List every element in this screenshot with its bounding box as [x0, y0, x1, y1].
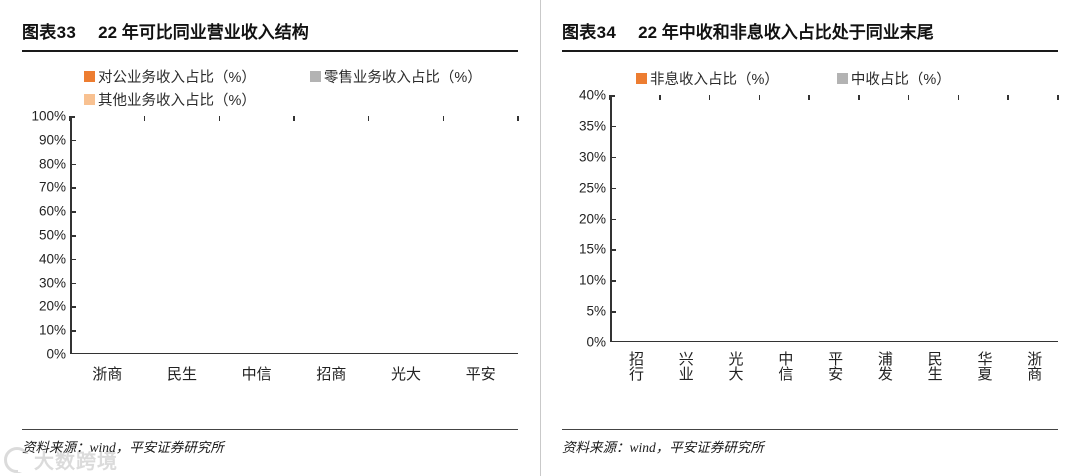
x-axis-label: 光大 [710, 351, 760, 385]
y-tick-label: 5% [586, 304, 606, 319]
x-axis-label: 浙商 [1008, 351, 1058, 385]
x-axis-line [70, 353, 518, 355]
bar-slot [294, 116, 369, 354]
y-tick-label: 10% [39, 323, 66, 338]
x-tick-mark [858, 95, 860, 100]
y-tick-mark [70, 330, 76, 332]
legend-item-midincome: 中收占比（%） [837, 68, 951, 89]
x-tick-mark [709, 95, 711, 100]
y-tick-mark [610, 219, 616, 221]
x-axis-label-text: 浙商 [1025, 351, 1041, 381]
y-tick-label: 30% [39, 275, 66, 290]
bar-slot [610, 95, 660, 342]
x-axis-label: 招行 [610, 351, 660, 385]
figure-panel-34: 图表34 22 年中收和非息收入占比处于同业末尾 非息收入占比（%） 中收占比（… [540, 0, 1080, 476]
figure-number: 图表34 [562, 18, 616, 43]
y-tick-label: 25% [579, 180, 606, 195]
x-axis-label: 平安 [443, 363, 518, 384]
y-tick-mark [70, 164, 76, 166]
x-axis-label-text: 平安 [826, 351, 842, 381]
y-tick-mark [70, 283, 76, 285]
x-tick-mark [144, 116, 146, 121]
x-axis-label: 招商 [294, 363, 369, 384]
y-tick-mark [70, 140, 76, 142]
y-tick-mark [610, 126, 616, 128]
legend-swatch-midincome [837, 73, 848, 84]
y-tick-label: 40% [579, 88, 606, 103]
x-axis-label-text: 兴业 [677, 351, 693, 381]
x-axis-label-text: 招行 [627, 351, 643, 381]
legend-label-retail: 零售业务收入占比（%） [324, 66, 482, 87]
x-axis-label-text: 中信 [776, 351, 792, 381]
y-tick-label: 50% [39, 228, 66, 243]
axis-area-34 [610, 95, 1058, 342]
legend-swatch-corporate [84, 71, 95, 82]
bar-slot [443, 116, 518, 354]
legend-34: 非息收入占比（%） 中收占比（%） [562, 68, 1058, 89]
bar-slot [710, 95, 760, 342]
figure-title: 22 年中收和非息收入占比处于同业末尾 [638, 18, 934, 43]
x-tick-mark [808, 95, 810, 100]
y-tick-label: 30% [579, 149, 606, 164]
source-note-33: 资料来源：wind，平安证券研究所 [22, 429, 518, 456]
y-axis-labels-34: 0%5%10%15%20%25%30%35%40% [562, 95, 610, 342]
bar-slot [1008, 95, 1058, 342]
legend-swatch-other [84, 94, 95, 105]
legend-item-noninterest: 非息收入占比（%） [636, 68, 779, 89]
x-tick-mark [659, 95, 661, 100]
y-tick-mark [610, 188, 616, 190]
bar-slot [660, 95, 710, 342]
legend-label-midincome: 中收占比（%） [851, 68, 951, 89]
y-tick-label: 60% [39, 204, 66, 219]
y-tick-label: 90% [39, 132, 66, 147]
x-tick-mark [609, 95, 611, 100]
x-tick-mark [219, 116, 221, 121]
legend-item-corporate: 对公业务收入占比（%） [84, 66, 256, 87]
x-tick-mark [368, 116, 370, 121]
y-tick-label: 70% [39, 180, 66, 195]
figure-title: 22 年可比同业营业收入结构 [98, 18, 309, 43]
y-tick-label: 100% [31, 109, 66, 124]
source-note-34: 资料来源：wind，平安证券研究所 [562, 429, 1058, 456]
x-axis-label: 平安 [809, 351, 859, 385]
x-axis-label: 光大 [369, 363, 444, 384]
legend-item-retail: 零售业务收入占比（%） [310, 66, 482, 87]
legend-item-other: 其他业务收入占比（%） [84, 89, 256, 110]
x-axis-label-text: 民生 [925, 351, 941, 381]
x-axis-label: 华夏 [958, 351, 1008, 385]
y-tick-label: 20% [579, 211, 606, 226]
plot-area-33: 0%10%20%30%40%50%60%70%80%90%100% 浙商民生中信… [22, 116, 518, 384]
x-axis-line [610, 341, 1058, 343]
bar-slot [759, 95, 809, 342]
x-tick-mark [293, 116, 295, 121]
bar-group-33 [70, 116, 518, 354]
x-tick-mark [908, 95, 910, 100]
bar-slot [809, 95, 859, 342]
axis-area-33 [70, 116, 518, 354]
x-axis-label: 兴业 [660, 351, 710, 385]
bar-slot [909, 95, 959, 342]
y-tick-mark [610, 280, 616, 282]
x-tick-mark [1007, 95, 1009, 100]
x-axis-label-text: 光大 [726, 351, 742, 381]
y-tick-label: 40% [39, 251, 66, 266]
y-tick-label: 0% [586, 335, 606, 350]
y-tick-label: 0% [46, 347, 66, 362]
x-axis-label: 浦发 [859, 351, 909, 385]
x-axis-label: 中信 [759, 351, 809, 385]
x-axis-label: 民生 [145, 363, 220, 384]
bar-slot [369, 116, 444, 354]
legend-label-noninterest: 非息收入占比（%） [650, 68, 779, 89]
y-tick-label: 80% [39, 156, 66, 171]
y-tick-mark [70, 235, 76, 237]
y-tick-mark [610, 311, 616, 313]
y-tick-label: 10% [579, 273, 606, 288]
x-axis-label-text: 华夏 [975, 351, 991, 381]
plot-area-34: 0%5%10%15%20%25%30%35%40% 招行兴业光大中信平安浦发民生… [562, 95, 1058, 385]
y-tick-mark [610, 157, 616, 159]
x-tick-mark [1057, 95, 1059, 100]
x-axis-labels-34: 招行兴业光大中信平安浦发民生华夏浙商 [610, 351, 1058, 385]
bar-slot [859, 95, 909, 342]
x-tick-mark [517, 116, 519, 121]
x-tick-mark [443, 116, 445, 121]
x-axis-label: 民生 [909, 351, 959, 385]
x-axis-label: 浙商 [70, 363, 145, 384]
x-axis-label: 中信 [219, 363, 294, 384]
y-axis-labels-33: 0%10%20%30%40%50%60%70%80%90%100% [22, 116, 70, 354]
bar-group-34 [610, 95, 1058, 342]
y-tick-mark [70, 187, 76, 189]
y-tick-mark [610, 249, 616, 251]
panel-title-34: 图表34 22 年中收和非息收入占比处于同业末尾 [562, 18, 1058, 52]
bar-slot [958, 95, 1008, 342]
y-tick-label: 15% [579, 242, 606, 257]
y-tick-label: 20% [39, 299, 66, 314]
panel-title-33: 图表33 22 年可比同业营业收入结构 [22, 18, 518, 52]
y-tick-label: 35% [579, 118, 606, 133]
x-axis-labels-33: 浙商民生中信招商光大平安 [70, 363, 518, 384]
bar-slot [70, 116, 145, 354]
y-tick-mark [70, 259, 76, 261]
x-tick-mark [958, 95, 960, 100]
bar-slot [219, 116, 294, 354]
figure-panel-33: 图表33 22 年可比同业营业收入结构 对公业务收入占比（%） 零售业务收入占比… [0, 0, 540, 476]
x-tick-mark [759, 95, 761, 100]
bar-slot [145, 116, 220, 354]
legend-swatch-retail [310, 71, 321, 82]
x-tick-mark [69, 116, 71, 121]
figure-number: 图表33 [22, 18, 76, 43]
x-axis-label-text: 浦发 [876, 351, 892, 381]
legend-label-other: 其他业务收入占比（%） [98, 89, 256, 110]
figure-page: 图表33 22 年可比同业营业收入结构 对公业务收入占比（%） 零售业务收入占比… [0, 0, 1080, 476]
legend-33: 对公业务收入占比（%） 零售业务收入占比（%） 其他业务收入占比（%） [22, 66, 518, 110]
legend-label-corporate: 对公业务收入占比（%） [98, 66, 256, 87]
y-tick-mark [70, 306, 76, 308]
legend-swatch-noninterest [636, 73, 647, 84]
y-tick-mark [70, 211, 76, 213]
